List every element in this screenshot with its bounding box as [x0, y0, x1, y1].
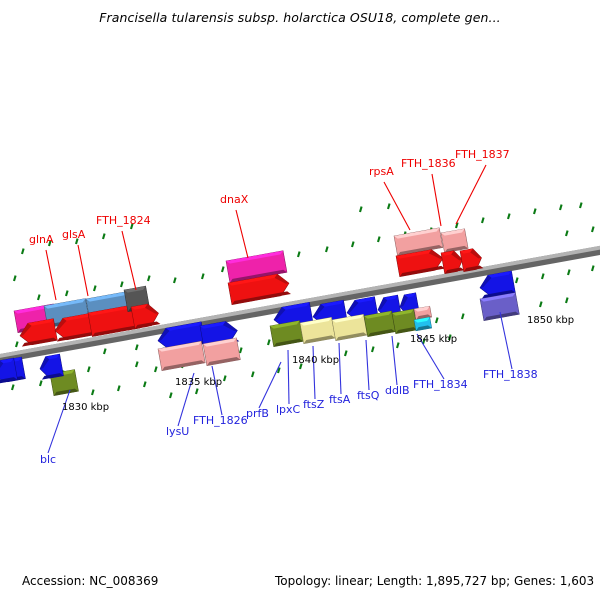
gene-feature[interactable]: [392, 309, 417, 334]
gene-tick: [94, 286, 96, 291]
gene-tick: [560, 205, 562, 210]
gene-label-red[interactable]: FTH_1824: [96, 214, 151, 227]
gene-tick: [326, 247, 328, 252]
gene-label-blue-leader: [313, 346, 315, 399]
gene-tick: [345, 351, 347, 356]
gene-tick: [540, 302, 542, 307]
gene-tick: [224, 376, 226, 381]
gene-tick: [378, 237, 380, 242]
gene-tick: [14, 276, 16, 281]
gene-label-red[interactable]: glnA: [29, 233, 54, 246]
gene-tick: [298, 252, 300, 257]
genome-map-canvas[interactable]: glnAglsAFTH_1824dnaXrpsAFTH_1836FTH_1837…: [0, 0, 600, 600]
gene-tick: [88, 367, 90, 372]
gene-tick: [136, 345, 138, 350]
scale-label: 1845 kbp: [410, 334, 457, 345]
gene-tick: [240, 348, 242, 353]
gene-label-blue-leader: [48, 390, 70, 453]
status-bar: Accession: NC_008369 Topology: linear; L…: [0, 564, 600, 600]
gene-feature[interactable]: [441, 229, 468, 253]
scale-label: 1840 kbp: [292, 355, 339, 366]
gene-feature[interactable]: [460, 247, 483, 271]
gene-tick: [22, 249, 24, 254]
gene-label-blue[interactable]: FTH_1826: [193, 414, 248, 427]
gene-tick: [202, 274, 204, 279]
gene-label-red[interactable]: FTH_1836: [401, 157, 456, 170]
gene-tick: [542, 274, 544, 279]
gene-tick: [516, 278, 518, 283]
gene-tick: [534, 209, 536, 214]
gene-feature[interactable]: [394, 228, 443, 256]
gene-tick: [568, 270, 570, 275]
gene-tick: [16, 342, 18, 347]
genome-map-svg[interactable]: glnAglsAFTH_1824dnaXrpsAFTH_1836FTH_1837…: [0, 0, 600, 600]
gene-label-blue-leader: [392, 336, 397, 385]
gene-tick: [104, 349, 106, 354]
gene-label-blue-leader: [288, 350, 289, 404]
gene-label-blue[interactable]: ftsQ: [357, 389, 380, 402]
gene-label-red-leader: [122, 231, 136, 290]
accession-label: Accession: NC_008369: [22, 574, 158, 588]
gene-tick: [252, 372, 254, 377]
gene-tick: [38, 295, 40, 300]
gene-tick: [462, 314, 464, 319]
gene-label-red-leader: [456, 165, 486, 224]
topology-label: Topology: linear; Length: 1,895,727 bp; …: [275, 574, 594, 588]
gene-label-red-leader: [236, 210, 248, 258]
gene-tick: [40, 381, 42, 386]
gene-label-blue-leader: [339, 343, 341, 394]
gene-feature[interactable]: [38, 354, 64, 380]
gene-tick: [92, 390, 94, 395]
gene-label-blue[interactable]: ftsA: [329, 393, 351, 406]
gene-tick: [268, 340, 270, 345]
gene-label-red-leader: [46, 250, 56, 300]
gene-tick: [360, 207, 362, 212]
gene-label-blue[interactable]: ftsZ: [303, 398, 325, 411]
gene-tick: [12, 385, 14, 390]
gene-label-red[interactable]: dnaX: [220, 193, 249, 206]
gene-label-blue[interactable]: lysU: [166, 425, 189, 438]
gene-label-blue-leader: [259, 362, 281, 408]
gene-tick: [372, 347, 374, 352]
gene-tick: [170, 393, 172, 398]
gene-tick: [482, 218, 484, 223]
gene-tick: [388, 204, 390, 209]
gene-label-red[interactable]: glsA: [62, 228, 86, 241]
gene-label-blue[interactable]: prfB: [246, 407, 269, 420]
gene-tick: [592, 227, 594, 232]
gene-label-blue-leader: [212, 366, 222, 415]
gene-tick: [436, 318, 438, 323]
gene-label-red-leader: [432, 174, 441, 226]
gene-tick: [148, 276, 150, 281]
gene-tick: [66, 291, 68, 296]
gene-label-red[interactable]: FTH_1837: [455, 148, 510, 161]
gene-tick: [196, 389, 198, 394]
scale-label: 1850 kbp: [527, 315, 574, 326]
genome-viewer: Francisella tularensis subsp. holarctica…: [0, 0, 600, 600]
gene-label-blue[interactable]: FTH_1834: [413, 378, 468, 391]
gene-label-blue-leader: [366, 340, 369, 390]
gene-tick: [352, 242, 354, 247]
gene-label-blue[interactable]: FTH_1838: [483, 368, 538, 381]
scale-label: 1835 kbp: [175, 377, 222, 388]
gene-tick: [397, 343, 399, 348]
gene-tick: [222, 267, 224, 272]
gene-label-red[interactable]: rpsA: [369, 165, 394, 178]
gene-tick: [566, 231, 568, 236]
gene-tick: [580, 203, 582, 208]
gene-tick: [121, 282, 123, 287]
gene-tick: [118, 386, 120, 391]
scale-label: 1830 kbp: [62, 402, 109, 413]
gene-label-blue-leader: [500, 312, 512, 369]
gene-label-blue[interactable]: blc: [40, 453, 56, 466]
gene-label-blue[interactable]: lpxC: [276, 403, 301, 416]
gene-tick: [103, 234, 105, 239]
gene-feature[interactable]: [270, 321, 303, 347]
gene-tick: [136, 362, 138, 367]
gene-tick: [144, 382, 146, 387]
gene-label-red-leader: [78, 245, 88, 296]
gene-feature[interactable]: [131, 302, 160, 328]
gene-tick: [592, 266, 594, 271]
gene-tick: [174, 278, 176, 283]
gene-tick: [155, 367, 157, 372]
gene-tick: [508, 214, 510, 219]
gene-tick: [566, 298, 568, 303]
gene-label-blue[interactable]: ddlB: [385, 384, 410, 397]
